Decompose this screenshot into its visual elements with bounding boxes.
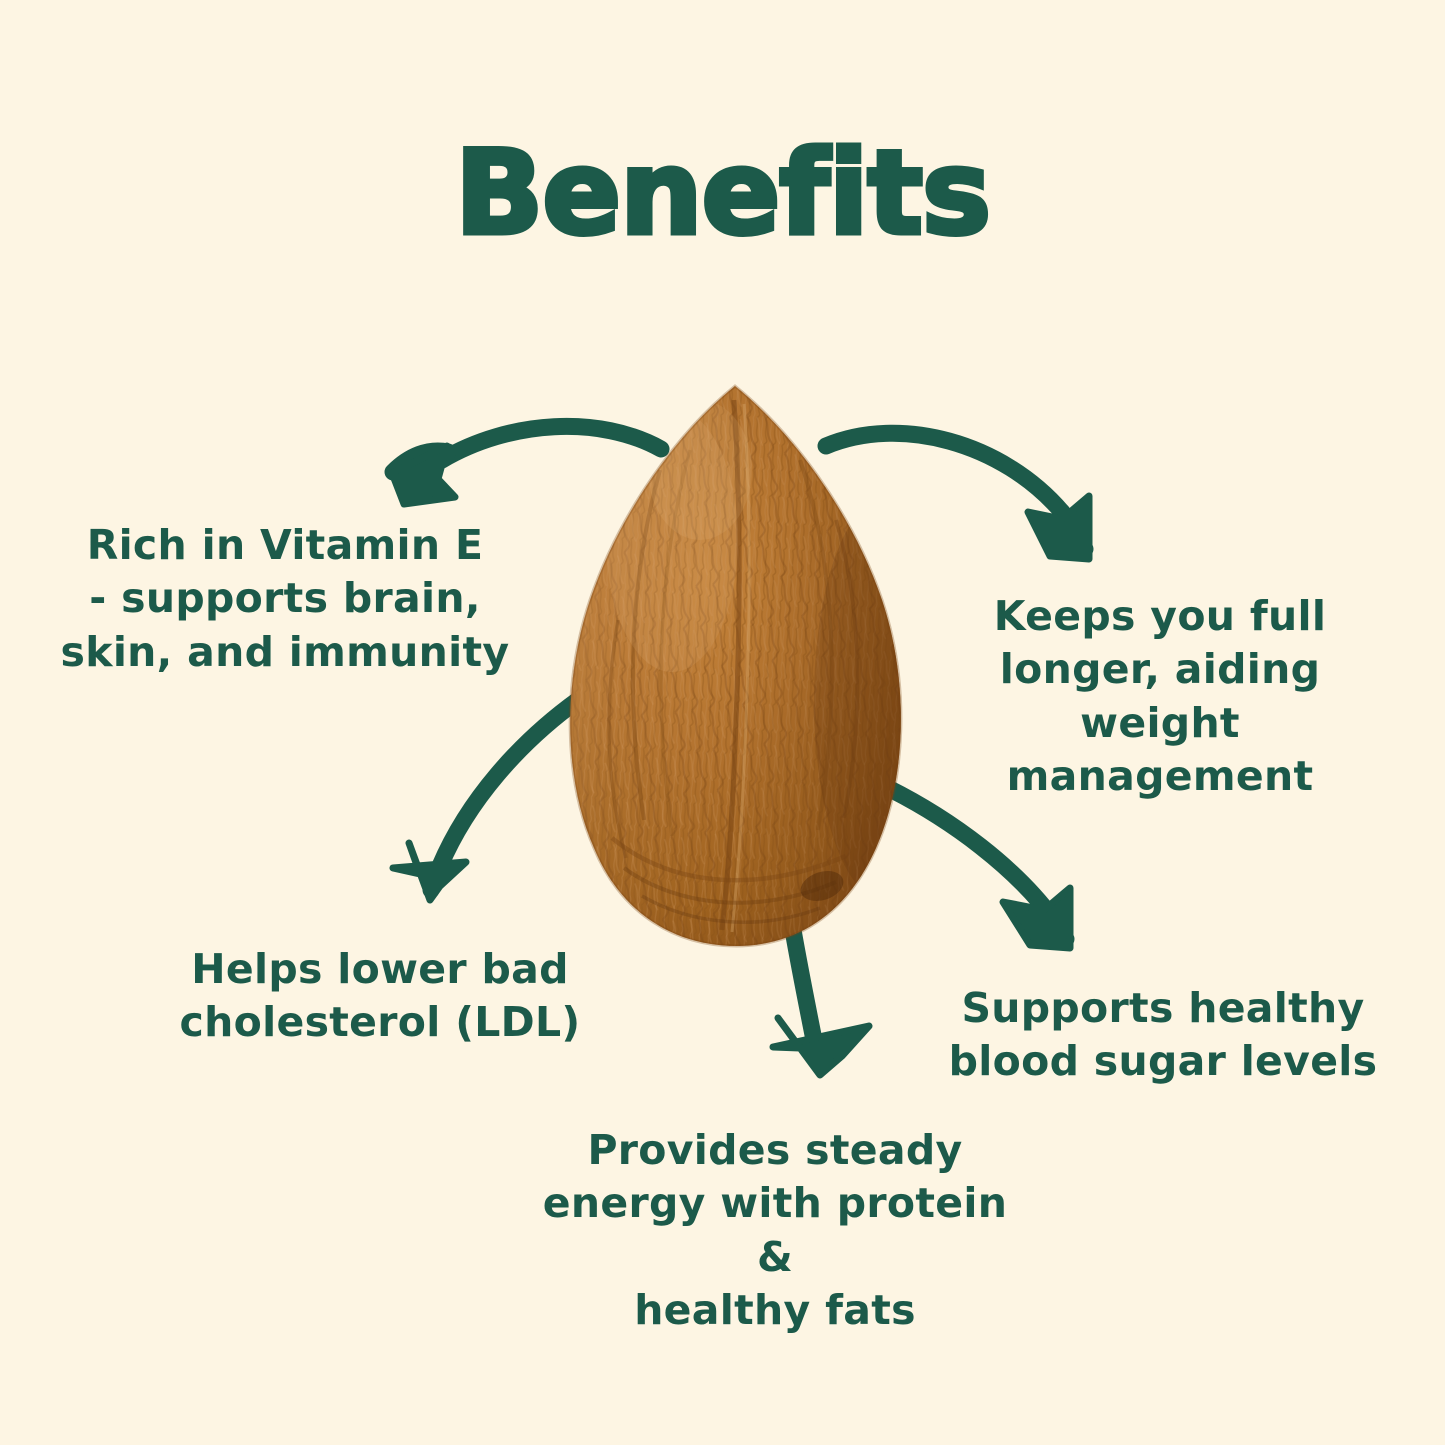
callout-text-bloodsugar: Supports healthy blood sugar levels	[948, 982, 1378, 1089]
callout-text-fullness: Keeps you full longer, aiding weight man…	[930, 590, 1390, 803]
callout-text-energy: Provides steady energy with protein & he…	[530, 1124, 1020, 1337]
curved-arrow-top-left	[392, 426, 661, 504]
curved-arrow-bottom-center	[773, 930, 869, 1075]
infographic-canvas: Benefits	[0, 0, 1445, 1445]
curved-arrow-top-right	[826, 433, 1089, 559]
callout-text-cholesterol: Helps lower bad cholesterol (LDL)	[165, 943, 595, 1050]
callout-text-vitamin-e: Rich in Vitamin E - supports brain, skin…	[60, 519, 510, 679]
page-title: Benefits	[0, 136, 1445, 252]
curved-arrow-mid-left	[393, 700, 578, 900]
almond-photo	[560, 380, 954, 960]
curved-arrow-mid-right	[888, 788, 1070, 948]
